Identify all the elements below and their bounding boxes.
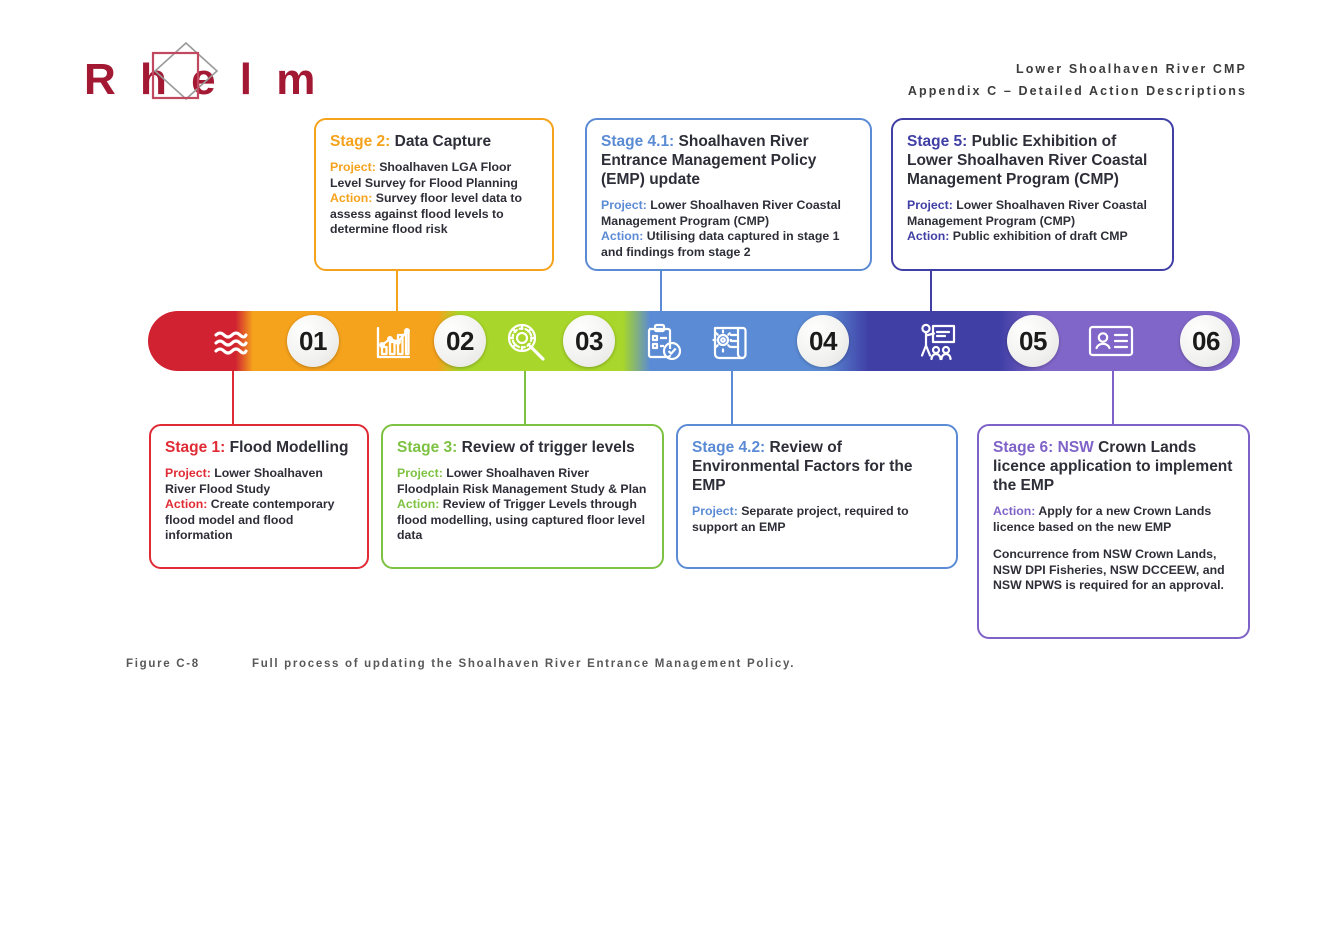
stage-42-project: Project: Separate project, required to s… <box>692 504 942 535</box>
stage-6-body: Action: Apply for a new Crown Lands lice… <box>993 504 1234 594</box>
callout-stage-6: Stage 6: NSW Crown Lands licence applica… <box>977 424 1250 639</box>
figure-caption-label: Figure C-8 <box>126 658 252 670</box>
stage-5-action-text: Public exhibition of draft CMP <box>949 229 1127 243</box>
callout-stage-1: Stage 1: Flood Modelling Project: Lower … <box>149 424 369 569</box>
callout-stage-3: Stage 3: Review of trigger levels Projec… <box>381 424 664 569</box>
id-card-icon <box>1088 323 1134 359</box>
stage-2-action: Action: Survey floor level data to asses… <box>330 191 538 238</box>
connector-stage6 <box>1112 368 1114 424</box>
stage-6-label: Stage 6: <box>993 439 1053 456</box>
stage-5-title: Stage 5: Public Exhibition of Lower Shoa… <box>907 132 1158 189</box>
header-line-subtitle: Appendix C – Detailed Action Description… <box>908 80 1247 102</box>
stage-5-label: Stage 5: <box>907 133 967 150</box>
stage-1-title: Stage 1: Flood Modelling <box>165 438 353 457</box>
connector-stage42 <box>731 368 733 424</box>
stage-41-project-label: Project: <box>601 198 647 212</box>
stage-41-project: Project: Lower Shoalhaven River Coastal … <box>601 198 856 229</box>
stage-41-title: Stage 4.1: Shoalhaven River Entrance Man… <box>601 132 856 189</box>
stage-3-body: Project: Lower Shoalhaven River Floodpla… <box>397 466 648 544</box>
stage-2-action-label: Action: <box>330 191 372 205</box>
stage-number-01: 01 <box>287 315 339 367</box>
bar-chart-icon <box>373 323 411 361</box>
stage-42-project-label: Project: <box>692 504 738 518</box>
stage-2-title-text: Data Capture <box>390 133 491 150</box>
callout-stage-4-2: Stage 4.2: Review of Environmental Facto… <box>676 424 958 569</box>
stage-1-body: Project: Lower Shoalhaven River Flood St… <box>165 466 353 544</box>
stage-41-action: Action: Utilising data captured in stage… <box>601 229 856 260</box>
stage-41-label: Stage 4.1: <box>601 133 674 150</box>
stage-41-action-label: Action: <box>601 229 643 243</box>
stage-3-action: Action: Review of Trigger Levels through… <box>397 497 648 544</box>
scroll-gear-icon <box>709 321 751 363</box>
stage-6-note: Concurrence from NSW Crown Lands, NSW DP… <box>993 547 1234 594</box>
stage-2-body: Project: Shoalhaven LGA Floor Level Surv… <box>330 160 538 238</box>
connector-stage1 <box>232 368 234 424</box>
logo-diamond-mark <box>146 40 220 108</box>
stage-2-title: Stage 2: Data Capture <box>330 132 538 151</box>
stage-number-04: 04 <box>797 315 849 367</box>
header-line-title: Lower Shoalhaven River CMP <box>908 58 1247 80</box>
stage-number-02: 02 <box>434 315 486 367</box>
stage-41-body: Project: Lower Shoalhaven River Coastal … <box>601 198 856 260</box>
figure-page: R h e l m Lower Shoalhaven River CMP App… <box>0 0 1333 942</box>
connector-stage3 <box>524 368 526 424</box>
waves-icon <box>211 323 249 361</box>
stage-3-project: Project: Lower Shoalhaven River Floodpla… <box>397 466 648 497</box>
stage-6-title-accent: NSW <box>1053 439 1093 456</box>
stage-1-title-text: Flood Modelling <box>225 439 348 456</box>
connector-stage2 <box>396 270 398 315</box>
figure-caption-text: Full process of updating the Shoalhaven … <box>252 658 795 670</box>
stage-6-title: Stage 6: NSW Crown Lands licence applica… <box>993 438 1234 495</box>
stage-5-action-label: Action: <box>907 229 949 243</box>
stage-1-action: Action: Create contemporary flood model … <box>165 497 353 544</box>
stage-3-project-label: Project: <box>397 466 443 480</box>
stage-number-05: 05 <box>1007 315 1059 367</box>
stage-3-title: Stage 3: Review of trigger levels <box>397 438 648 457</box>
stage-5-project: Project: Lower Shoalhaven River Coastal … <box>907 198 1158 229</box>
stage-number-06: 06 <box>1180 315 1232 367</box>
stage-number-03: 03 <box>563 315 615 367</box>
clipboard-check-icon <box>642 321 684 363</box>
stage-42-label: Stage 4.2: <box>692 439 765 456</box>
stage-1-project: Project: Lower Shoalhaven River Flood St… <box>165 466 353 497</box>
connector-stage5 <box>930 270 932 315</box>
stage-6-action-label: Action: <box>993 504 1035 518</box>
stage-2-label: Stage 2: <box>330 133 390 150</box>
magnifier-gear-icon <box>504 320 548 364</box>
stage-5-body: Project: Lower Shoalhaven River Coastal … <box>907 198 1158 245</box>
process-timeline-bar: 01 02 03 04 05 06 <box>148 311 1240 371</box>
stage-2-project-label: Project: <box>330 160 376 174</box>
stage-6-action: Action: Apply for a new Crown Lands lice… <box>993 504 1234 535</box>
callout-stage-2: Stage 2: Data Capture Project: Shoalhave… <box>314 118 554 271</box>
presenter-audience-icon <box>915 321 957 363</box>
stage-5-project-label: Project: <box>907 198 953 212</box>
connector-stage41 <box>660 270 662 315</box>
stage-1-label: Stage 1: <box>165 439 225 456</box>
stage-3-title-text: Review of trigger levels <box>457 439 634 456</box>
stage-2-project: Project: Shoalhaven LGA Floor Level Surv… <box>330 160 538 191</box>
figure-caption: Figure C-8Full process of updating the S… <box>126 658 795 670</box>
document-header: Lower Shoalhaven River CMP Appendix C – … <box>908 58 1247 102</box>
stage-6-spacer <box>993 535 1234 547</box>
stage-1-project-label: Project: <box>165 466 211 480</box>
stage-3-action-label: Action: <box>397 497 439 511</box>
stage-5-action: Action: Public exhibition of draft CMP <box>907 229 1158 245</box>
callout-stage-4-1: Stage 4.1: Shoalhaven River Entrance Man… <box>585 118 872 271</box>
stage-42-title: Stage 4.2: Review of Environmental Facto… <box>692 438 942 495</box>
stage-1-action-label: Action: <box>165 497 207 511</box>
stage-42-body: Project: Separate project, required to s… <box>692 504 942 535</box>
stage-3-label: Stage 3: <box>397 439 457 456</box>
callout-stage-5: Stage 5: Public Exhibition of Lower Shoa… <box>891 118 1174 271</box>
rhelm-logo: R h e l m <box>84 48 384 112</box>
